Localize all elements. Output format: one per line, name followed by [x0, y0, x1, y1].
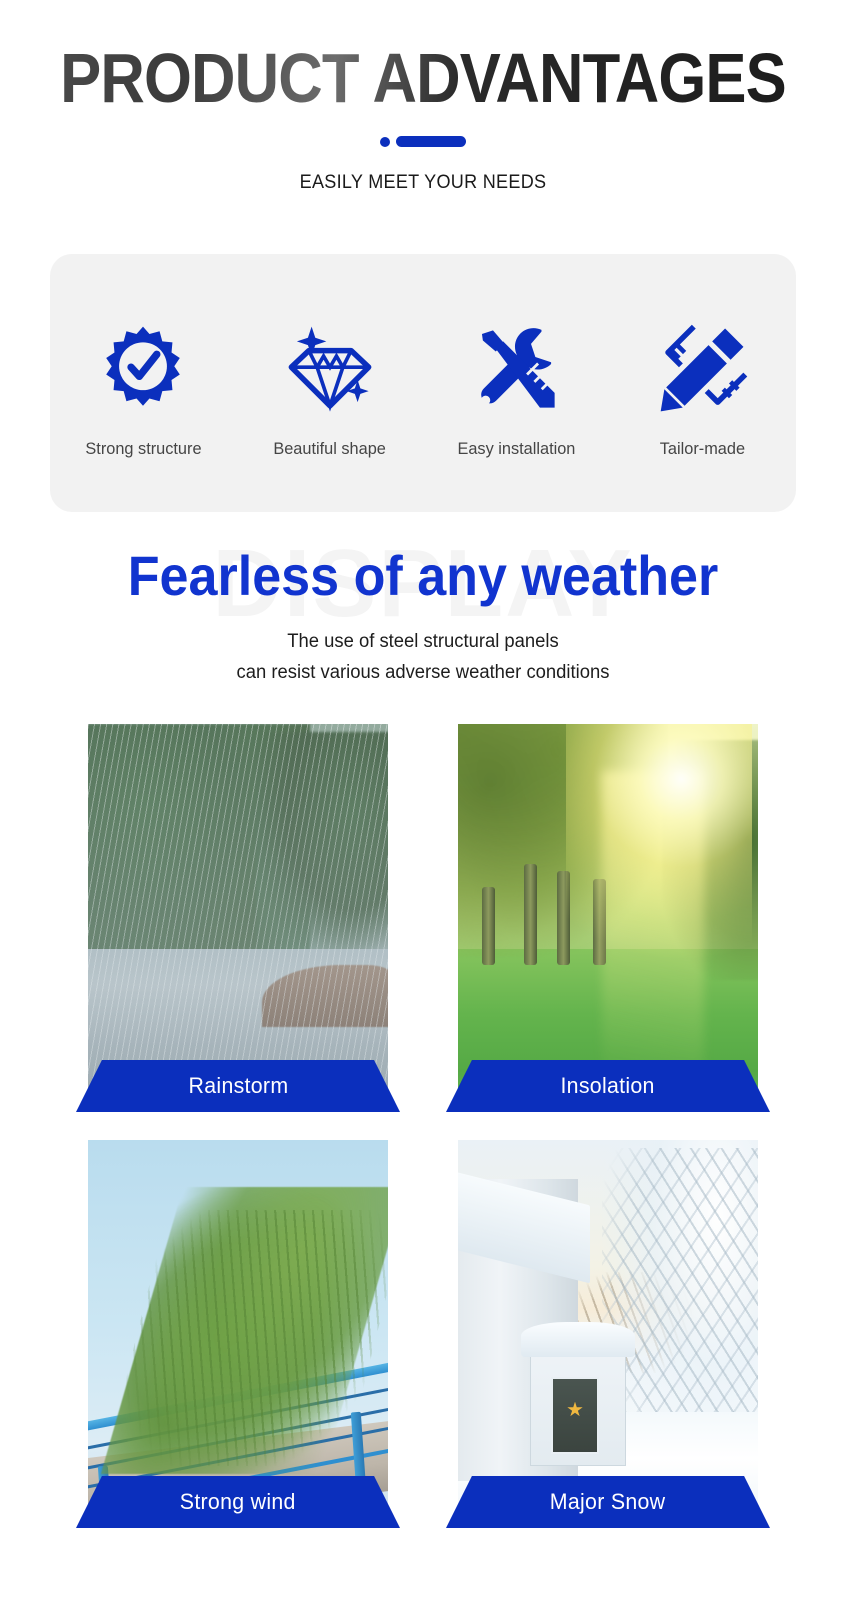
feature-beautiful-shape[interactable]: Beautiful shape	[237, 307, 424, 459]
card-label-banner: Strong wind	[88, 1476, 388, 1528]
entry-door	[551, 1377, 599, 1455]
rain-mist	[88, 724, 388, 1112]
card-label: Rainstorm	[188, 1073, 288, 1099]
card-label-banner: Insolation	[458, 1060, 758, 1112]
porch-snow-roof	[521, 1322, 635, 1357]
weather-card-grid: Rainstorm Insolation	[88, 724, 758, 1528]
divider-dot	[380, 137, 390, 147]
display-section: DISPLAY Fearless of any weather The use …	[0, 528, 846, 688]
feature-label: Strong structure	[85, 439, 201, 459]
display-subtitle-line1: The use of steel structural panels	[13, 626, 834, 657]
title-divider	[0, 136, 846, 147]
page-title: PRODUCT ADVANTAGES	[51, 42, 795, 114]
feature-easy-installation[interactable]: Easy installation	[423, 307, 610, 459]
tree-trunk	[482, 887, 495, 965]
card-label: Insolation	[561, 1073, 655, 1099]
weather-card-rainstorm[interactable]: Rainstorm	[88, 724, 388, 1112]
star-light-icon	[567, 1402, 583, 1418]
feature-label: Tailor-made	[660, 439, 745, 459]
gear-check-icon	[95, 321, 191, 417]
weather-card-strong-wind[interactable]: Strong wind	[88, 1140, 388, 1528]
wrench-screwdriver-icon	[468, 321, 564, 417]
feature-strong-structure[interactable]: Strong structure	[50, 307, 237, 459]
feature-label: Easy installation	[457, 439, 575, 459]
divider-bar	[396, 136, 466, 147]
sun-glow	[566, 724, 752, 980]
display-subtitle: The use of steel structural panels can r…	[13, 626, 834, 688]
weather-card-major-snow[interactable]: Major Snow	[458, 1140, 758, 1528]
pencil-ruler-icon	[655, 321, 751, 417]
card-label-banner: Major Snow	[458, 1476, 758, 1528]
product-advantages-page: PRODUCT ADVANTAGES EASILY MEET YOUR NEED…	[0, 0, 846, 1616]
weather-card-insolation[interactable]: Insolation	[458, 724, 758, 1112]
major-snow-photo	[458, 1140, 758, 1528]
card-label: Major Snow	[550, 1489, 666, 1515]
display-heading: Fearless of any weather	[30, 544, 817, 608]
rainstorm-photo	[88, 724, 388, 1112]
insolation-photo	[458, 724, 758, 1112]
feature-label: Beautiful shape	[273, 439, 386, 459]
feature-tailor-made[interactable]: Tailor-made	[610, 307, 797, 459]
diamond-sparkle-icon	[282, 321, 378, 417]
wind-blown-leaves	[104, 1210, 388, 1466]
card-label: Strong wind	[180, 1489, 296, 1515]
card-label-banner: Rainstorm	[88, 1060, 388, 1112]
page-subtitle: EASILY MEET YOUR NEEDS	[21, 172, 825, 194]
strong-wind-photo	[88, 1140, 388, 1528]
features-panel: Strong structure	[50, 254, 796, 512]
display-subtitle-line2: can resist various adverse weather condi…	[13, 657, 834, 688]
tree-trunk	[524, 864, 537, 965]
